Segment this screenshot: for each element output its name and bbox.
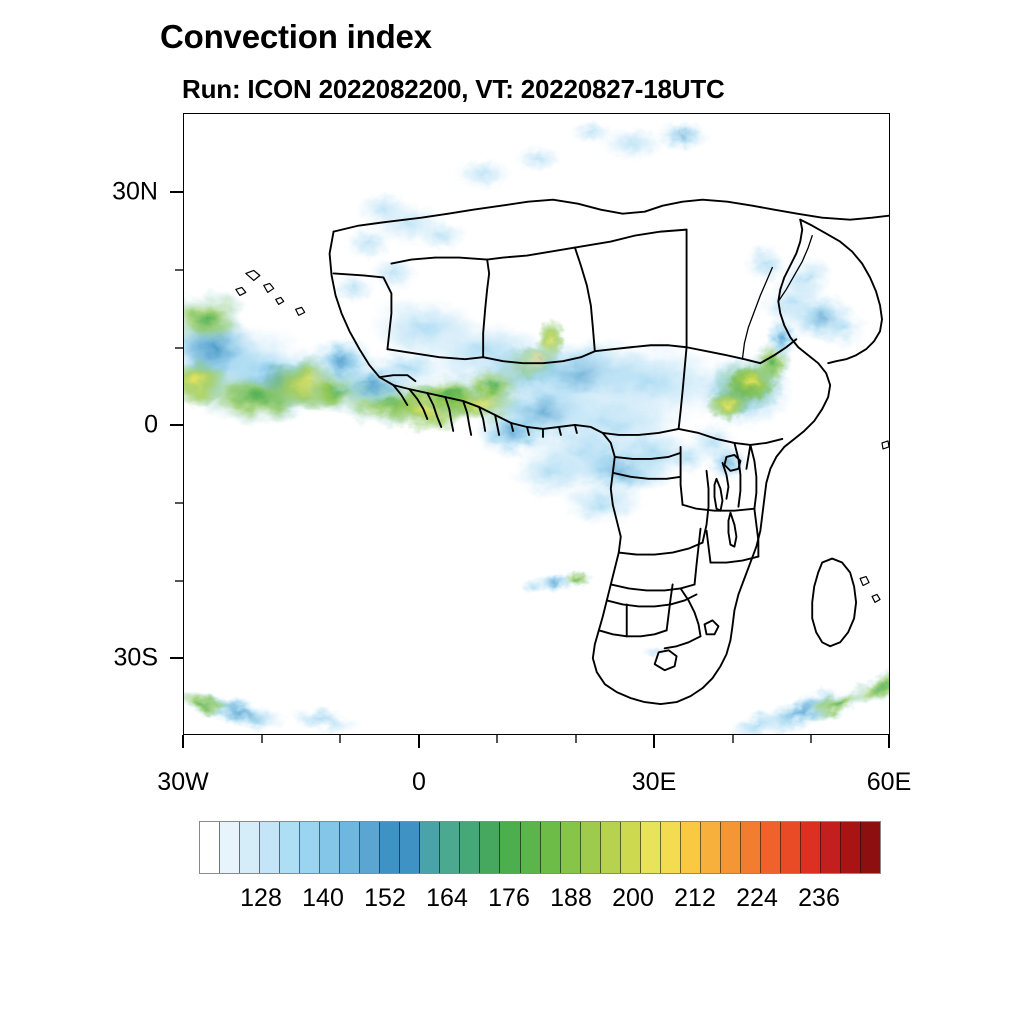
colorbar-label-128: 128 <box>240 884 282 913</box>
x-axis-label-0: 0 <box>412 768 426 797</box>
colorbar-label-212: 212 <box>674 884 716 913</box>
colorbar-cell-24 <box>681 822 701 873</box>
x-tick-minor-10e <box>496 735 498 743</box>
colorbar-cell-2 <box>240 822 260 873</box>
y-tick-minor-20s <box>175 580 183 582</box>
colorbar-cell-23 <box>661 822 681 873</box>
colorbar-label-200: 200 <box>612 884 654 913</box>
x-tick-minor-20e <box>575 735 577 743</box>
chart-subtitle: Run: ICON 2022082200, VT: 20220827-18UTC <box>182 74 725 105</box>
colorbar-cell-31 <box>821 822 841 873</box>
colorbar <box>199 821 881 874</box>
x-axis-label-60e: 60E <box>867 768 911 797</box>
colorbar-cell-19 <box>581 822 601 873</box>
y-tick-minor-10n <box>175 347 183 349</box>
y-tick-minor-20n <box>175 269 183 271</box>
y-tick-major-30s <box>170 657 183 659</box>
y-axis-label-0: 0 <box>98 411 158 440</box>
colorbar-cell-16 <box>521 822 541 873</box>
colorbar-cell-4 <box>280 822 300 873</box>
colorbar-cell-33 <box>861 822 880 873</box>
colorbar-label-176: 176 <box>488 884 530 913</box>
colorbar-cell-18 <box>561 822 581 873</box>
x-tick-minor-40e <box>732 735 734 743</box>
colorbar-cell-27 <box>741 822 761 873</box>
colorbar-cell-30 <box>801 822 821 873</box>
y-tick-minor-10s <box>175 502 183 504</box>
y-tick-major-0 <box>170 424 183 426</box>
y-axis-label-30n: 30N <box>98 178 158 207</box>
colorbar-cell-15 <box>500 822 520 873</box>
colorbar-cell-11 <box>420 822 440 873</box>
colorbar-cell-17 <box>541 822 561 873</box>
colorbar-cell-8 <box>360 822 380 873</box>
colorbar-cell-20 <box>601 822 621 873</box>
colorbar-cell-3 <box>260 822 280 873</box>
map-canvas <box>184 114 889 734</box>
x-tick-major-30w <box>182 735 184 748</box>
map-plot-area <box>183 113 890 735</box>
colorbar-cell-14 <box>480 822 500 873</box>
colorbar-cell-10 <box>400 822 420 873</box>
colorbar-cell-12 <box>440 822 460 873</box>
x-tick-major-60e <box>888 735 890 748</box>
x-tick-minor-10w <box>339 735 341 743</box>
colorbar-cell-7 <box>340 822 360 873</box>
chart-title: Convection index <box>160 18 432 56</box>
colorbar-label-188: 188 <box>550 884 592 913</box>
colorbar-cell-25 <box>701 822 721 873</box>
colorbar-cell-0 <box>200 822 220 873</box>
y-tick-major-30n <box>170 191 183 193</box>
colorbar-label-152: 152 <box>364 884 406 913</box>
colorbar-cell-22 <box>641 822 661 873</box>
colorbar-cell-26 <box>721 822 741 873</box>
x-axis-label-30w: 30W <box>157 768 208 797</box>
x-axis-label-30e: 30E <box>632 768 676 797</box>
colorbar-label-236: 236 <box>798 884 840 913</box>
figure-canvas: Convection index Run: ICON 2022082200, V… <box>0 0 1024 1024</box>
x-tick-major-30e <box>653 735 655 748</box>
colorbar-cell-9 <box>380 822 400 873</box>
colorbar-swatches <box>199 821 881 874</box>
colorbar-cell-32 <box>841 822 861 873</box>
colorbar-cell-6 <box>320 822 340 873</box>
colorbar-label-140: 140 <box>302 884 344 913</box>
colorbar-cell-5 <box>300 822 320 873</box>
x-tick-minor-20w <box>261 735 263 743</box>
colorbar-cell-29 <box>781 822 801 873</box>
x-tick-major-0 <box>418 735 420 748</box>
colorbar-label-164: 164 <box>426 884 468 913</box>
colorbar-cell-28 <box>761 822 781 873</box>
colorbar-label-224: 224 <box>736 884 778 913</box>
y-axis-label-30s: 30S <box>98 644 158 673</box>
colorbar-cell-13 <box>460 822 480 873</box>
colorbar-cell-1 <box>220 822 240 873</box>
x-tick-minor-50e <box>810 735 812 743</box>
colorbar-cell-21 <box>621 822 641 873</box>
